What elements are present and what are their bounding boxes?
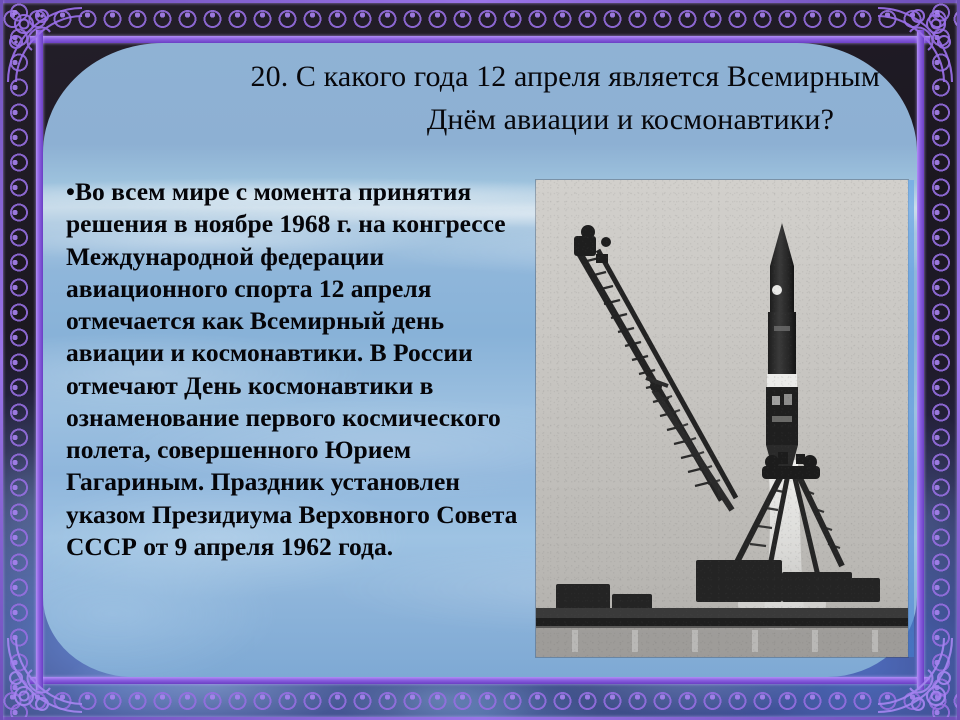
border-outer-rail-left: [0, 0, 3, 720]
bullet-glyph: •: [66, 177, 75, 206]
slide-title-line-2: Днём авиации и космонавтики?: [62, 99, 898, 142]
border-inner-rail-left: [36, 30, 43, 690]
slide-body-paragraph: •Во всем мире с момента принятия решения…: [66, 176, 528, 563]
presentation-slide: 20. С какого года 12 апреля является Все…: [0, 0, 960, 720]
photo-film-grain: [536, 180, 908, 657]
slide-body-text: Во всем мире с момента принятия решения …: [66, 177, 517, 561]
rocket-launch-photo: [536, 180, 908, 657]
border-motif-bottom: [0, 684, 960, 718]
border-inner-rail-bottom: [30, 677, 930, 684]
slide-title: 20. С какого года 12 апреля является Все…: [62, 56, 898, 141]
border-outer-rail-top: [0, 0, 960, 3]
border-motif-left: [2, 0, 36, 720]
slide-title-line-1: 20. С какого года 12 апреля является Все…: [62, 56, 898, 99]
border-inner-rail-top: [30, 36, 930, 43]
border-motif-top: [0, 2, 960, 36]
photo-edge-glow: [908, 180, 914, 657]
border-inner-rail-right: [917, 30, 924, 690]
border-motif-right: [924, 0, 958, 720]
